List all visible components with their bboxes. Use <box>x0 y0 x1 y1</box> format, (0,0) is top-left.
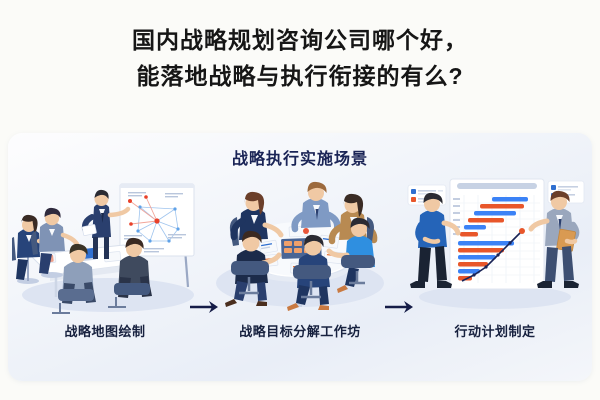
card-header-title: 战略执行实施场景 <box>8 145 592 169</box>
illustration-gantt-dashboard <box>402 171 588 317</box>
illustration-boardroom-presentation <box>12 171 198 317</box>
figure-workshop-2 <box>295 182 338 229</box>
page-title-line-1: 国内战略规划咨询公司哪个好， <box>0 22 600 58</box>
scene-card: 战略执行实施场景 <box>8 133 592 381</box>
page-title: 国内战略规划咨询公司哪个好， 能落地战略与执行衔接的有么? <box>0 22 600 94</box>
panel-caption-3: 行动计划制定 <box>402 321 588 340</box>
panel-action-plan: 行动计划制定 <box>402 171 588 343</box>
panel-caption-2: 战略目标分解工作坊 <box>207 321 393 340</box>
arrow-right-icon-1 <box>190 299 220 315</box>
panel-strategy-map: 战略地图绘制 <box>12 171 198 343</box>
page-title-line-2: 能落地战略与执行衔接的有么? <box>0 58 600 94</box>
arrow-right-icon-2 <box>385 299 415 315</box>
panel-goal-workshop: 战略目标分解工作坊 <box>207 171 393 343</box>
panel-row: 战略地图绘制 <box>8 171 592 381</box>
panel-caption-1: 战略地图绘制 <box>12 321 198 340</box>
illustration-round-table-workshop <box>207 171 393 317</box>
